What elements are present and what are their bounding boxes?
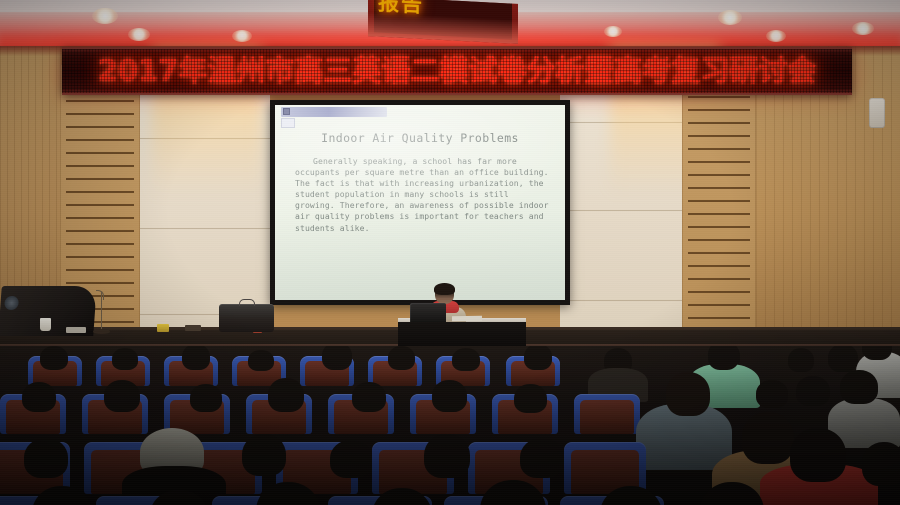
audience-head [790,428,846,482]
seat[interactable] [574,394,640,434]
microphone-base [93,329,110,334]
led-banner: 2017年温州市高三英语二模试卷分析暨高考复习研讨会 [62,47,852,95]
audience-head [112,348,138,370]
ceiling-spotlight [92,8,118,24]
slide-title: Indoor Air Quality Problems [275,131,565,145]
table-object-yellow [157,324,169,332]
audience-head [524,346,552,370]
audience-head [840,370,878,404]
wall-speaker [869,98,885,128]
briefcase [219,304,274,332]
audience-head [666,372,710,416]
auditorium-photo: 报告 2017年温州 [0,0,900,505]
audience-head [796,376,830,406]
audience-head [242,434,286,476]
slat-grooves [688,72,750,346]
ceiling-spotlight [852,22,874,35]
ceiling-spotlight [718,10,742,25]
ceiling-spotlight [766,30,786,42]
audience-head [330,440,372,478]
audience-head [756,380,788,408]
acoustic-slat-panel-right [682,60,756,346]
paper-cup [40,318,51,331]
papers-on-desk [452,316,482,322]
projection-screen-frame: Indoor Air Quality Problems Generally sp… [270,100,570,305]
audience-head [190,384,222,412]
presenter-hair [434,283,455,295]
microphone-stand [101,292,102,334]
table-object [66,327,86,333]
audience-head [388,346,415,370]
podium-emblem-icon [4,296,19,310]
audience-seating [0,346,900,505]
presentation-window-titlebar [281,107,387,117]
audience-head [104,380,140,412]
audience-head [22,382,56,412]
ceiling-spotlight [604,26,622,37]
audience-head [248,350,274,371]
audience-head [432,380,467,412]
audience-head [514,384,547,413]
presenter-desk [398,322,526,348]
audience-head [862,442,900,486]
laptop [410,303,446,322]
ceiling-spotlight [128,28,150,41]
presentation-window-button [281,118,295,128]
ceiling-spotlight [232,30,252,42]
audience-head [708,346,739,370]
audience-head [40,346,68,370]
briefcase-handle-icon [239,299,255,306]
audience-head [268,378,304,412]
table-object-dark [185,325,201,331]
audience-head [520,438,564,478]
audience-head [788,348,814,372]
window-icon [283,108,290,115]
audience-head [182,346,210,370]
audience-head [322,346,352,370]
audience-head [742,412,794,464]
led-banner-text: 2017年温州市高三英语二模试卷分析暨高考复习研讨会 [62,57,852,86]
audience-head [828,346,858,372]
microphone-arm [96,290,104,300]
slide-body-text: Generally speaking, a school has far mor… [295,156,551,234]
audience-head [352,382,386,412]
audience-head [24,438,68,478]
audience-head [452,348,480,371]
projection-screen: Indoor Air Quality Problems Generally sp… [275,105,565,300]
audience-head [424,434,470,478]
